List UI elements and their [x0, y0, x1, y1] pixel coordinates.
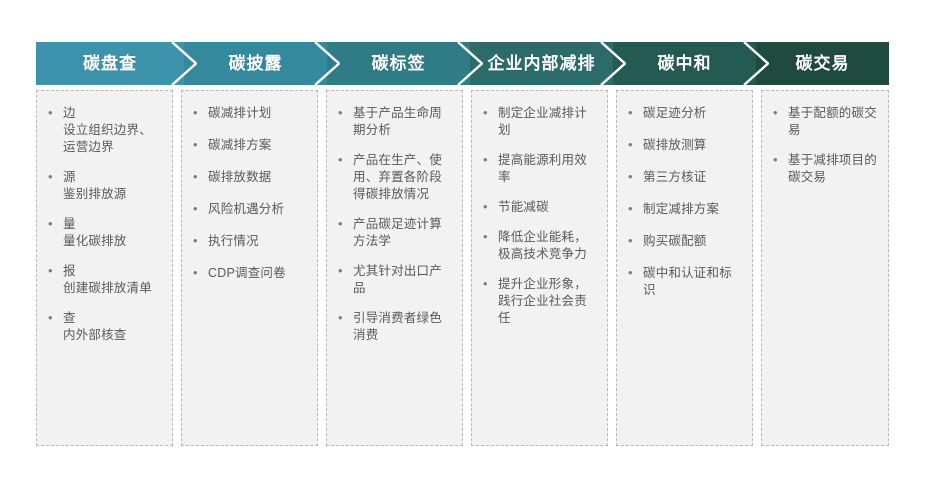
list-item: 碳减排方案	[191, 137, 308, 154]
item-title: 节能减碳	[498, 200, 549, 214]
process-flow-diagram: 碳盘查 碳披露 碳标签 企业内部减排 碳中和 碳交易	[36, 42, 889, 446]
list-item: 执行情况	[191, 233, 308, 250]
item-title: 制定减排方案	[643, 202, 719, 216]
item-title: 碳排放测算	[643, 138, 707, 152]
stage-tab-6[interactable]: 碳交易	[756, 42, 889, 85]
stage-body-row: 边 设立组织边界、运营边界 源 鉴别排放源 量 量化碳排放 报 创建碳排放清单 …	[36, 90, 889, 446]
item-title: 基于产品生命周期分析	[353, 106, 442, 137]
item-title: 制定企业减排计划	[498, 106, 587, 137]
list-item: 降低企业能耗，极高技术竞争力	[481, 229, 598, 263]
item-title: 碳中和认证和标识	[643, 266, 732, 297]
item-title: 购买碳配额	[643, 234, 707, 248]
stage-5-bullet-list: 碳足迹分析 碳排放测算 第三方核证 制定减排方案 购买碳配额 碳中和认证和标识	[626, 105, 743, 299]
stage-tab-1[interactable]: 碳盘查	[36, 42, 184, 85]
stage-tab-5-label: 碳中和	[658, 55, 712, 72]
stage-1-bullet-list: 边 设立组织边界、运营边界 源 鉴别排放源 量 量化碳排放 报 创建碳排放清单 …	[46, 105, 163, 344]
list-item: 产品在生产、使用、弃置各阶段得碳排放情况	[336, 152, 453, 203]
item-title: 报	[63, 264, 76, 278]
list-item: 报 创建碳排放清单	[46, 263, 163, 297]
item-title: 第三方核证	[643, 170, 707, 184]
list-item: 提升企业形象，践行企业社会责任	[481, 276, 598, 327]
stage-tab-4[interactable]: 企业内部减排	[470, 42, 613, 85]
list-item: 第三方核证	[626, 169, 743, 186]
stage-panel-6: 基于配额的碳交易 基于减排项目的碳交易	[761, 90, 889, 446]
stage-3-bullet-list: 基于产品生命周期分析 产品在生产、使用、弃置各阶段得碳排放情况 产品碳足迹计算方…	[336, 105, 453, 344]
stage-panel-5: 碳足迹分析 碳排放测算 第三方核证 制定减排方案 购买碳配额 碳中和认证和标识	[616, 90, 753, 446]
item-title: 尤其针对出口产品	[353, 264, 442, 295]
stage-tab-5[interactable]: 碳中和	[613, 42, 756, 85]
stage-4-bullet-list: 制定企业减排计划 提高能源利用效率 节能减碳 降低企业能耗，极高技术竞争力 提升…	[481, 105, 598, 327]
list-item: 查 内外部核查	[46, 310, 163, 344]
stage-tab-3-label: 碳标签	[372, 55, 426, 72]
list-item: 基于减排项目的碳交易	[771, 152, 879, 186]
list-item: 引导消费者绿色消费	[336, 310, 453, 344]
item-title: 降低企业能耗，极高技术竞争力	[498, 230, 587, 261]
item-detail: 创建碳排放清单	[63, 280, 163, 297]
list-item: 购买碳配额	[626, 233, 743, 250]
item-title: 基于减排项目的碳交易	[788, 153, 877, 184]
list-item: 边 设立组织边界、运营边界	[46, 105, 163, 156]
list-item: 风险机遇分析	[191, 201, 308, 218]
item-title: 基于配额的碳交易	[788, 106, 877, 137]
item-title: 碳排放数据	[208, 170, 272, 184]
list-item: 源 鉴别排放源	[46, 169, 163, 203]
list-item: 尤其针对出口产品	[336, 263, 453, 297]
item-title: 碳减排方案	[208, 138, 272, 152]
stage-tab-3[interactable]: 碳标签	[327, 42, 470, 85]
list-item: 碳减排计划	[191, 105, 308, 122]
item-detail: 设立组织边界、运营边界	[63, 122, 163, 156]
item-title: 提高能源利用效率	[498, 153, 587, 184]
stage-panel-4: 制定企业减排计划 提高能源利用效率 节能减碳 降低企业能耗，极高技术竞争力 提升…	[471, 90, 608, 446]
list-item: 碳中和认证和标识	[626, 265, 743, 299]
item-title: 风险机遇分析	[208, 202, 284, 216]
item-detail: 量化碳排放	[63, 233, 163, 250]
stage-header-row: 碳盘查 碳披露 碳标签 企业内部减排 碳中和 碳交易	[36, 42, 889, 85]
list-item: 产品碳足迹计算方法学	[336, 216, 453, 250]
list-item: 碳排放数据	[191, 169, 308, 186]
list-item: 基于产品生命周期分析	[336, 105, 453, 139]
stage-panel-1: 边 设立组织边界、运营边界 源 鉴别排放源 量 量化碳排放 报 创建碳排放清单 …	[36, 90, 173, 446]
item-title: 执行情况	[208, 234, 259, 248]
list-item: 基于配额的碳交易	[771, 105, 879, 139]
stage-panel-2: 碳减排计划 碳减排方案 碳排放数据 风险机遇分析 执行情况 CDP调查问卷	[181, 90, 318, 446]
item-title: 边	[63, 106, 76, 120]
item-title: 提升企业形象，践行企业社会责任	[498, 277, 587, 325]
item-detail: 内外部核查	[63, 327, 163, 344]
item-title: 源	[63, 170, 76, 184]
list-item: 节能减碳	[481, 199, 598, 216]
stage-tab-2-label: 碳披露	[229, 55, 283, 72]
item-title: CDP调查问卷	[208, 266, 286, 280]
list-item: 制定企业减排计划	[481, 105, 598, 139]
item-title: 碳减排计划	[208, 106, 272, 120]
item-title: 产品在生产、使用、弃置各阶段得碳排放情况	[353, 153, 442, 201]
item-title: 引导消费者绿色消费	[353, 311, 442, 342]
item-title: 量	[63, 217, 76, 231]
list-item: 制定减排方案	[626, 201, 743, 218]
stage-2-bullet-list: 碳减排计划 碳减排方案 碳排放数据 风险机遇分析 执行情况 CDP调查问卷	[191, 105, 308, 282]
item-title: 查	[63, 311, 76, 325]
list-item: 碳排放测算	[626, 137, 743, 154]
list-item: 量 量化碳排放	[46, 216, 163, 250]
stage-tab-2[interactable]: 碳披露	[184, 42, 327, 85]
list-item: 提高能源利用效率	[481, 152, 598, 186]
stage-tab-6-label: 碳交易	[796, 55, 850, 72]
stage-tab-1-label: 碳盘查	[83, 55, 137, 72]
stage-6-bullet-list: 基于配额的碳交易 基于减排项目的碳交易	[771, 105, 879, 186]
list-item: 碳足迹分析	[626, 105, 743, 122]
item-title: 产品碳足迹计算方法学	[353, 217, 442, 248]
stage-panel-3: 基于产品生命周期分析 产品在生产、使用、弃置各阶段得碳排放情况 产品碳足迹计算方…	[326, 90, 463, 446]
list-item: CDP调查问卷	[191, 265, 308, 282]
item-detail: 鉴别排放源	[63, 186, 163, 203]
item-title: 碳足迹分析	[643, 106, 707, 120]
stage-tab-4-label: 企业内部减排	[488, 55, 596, 72]
